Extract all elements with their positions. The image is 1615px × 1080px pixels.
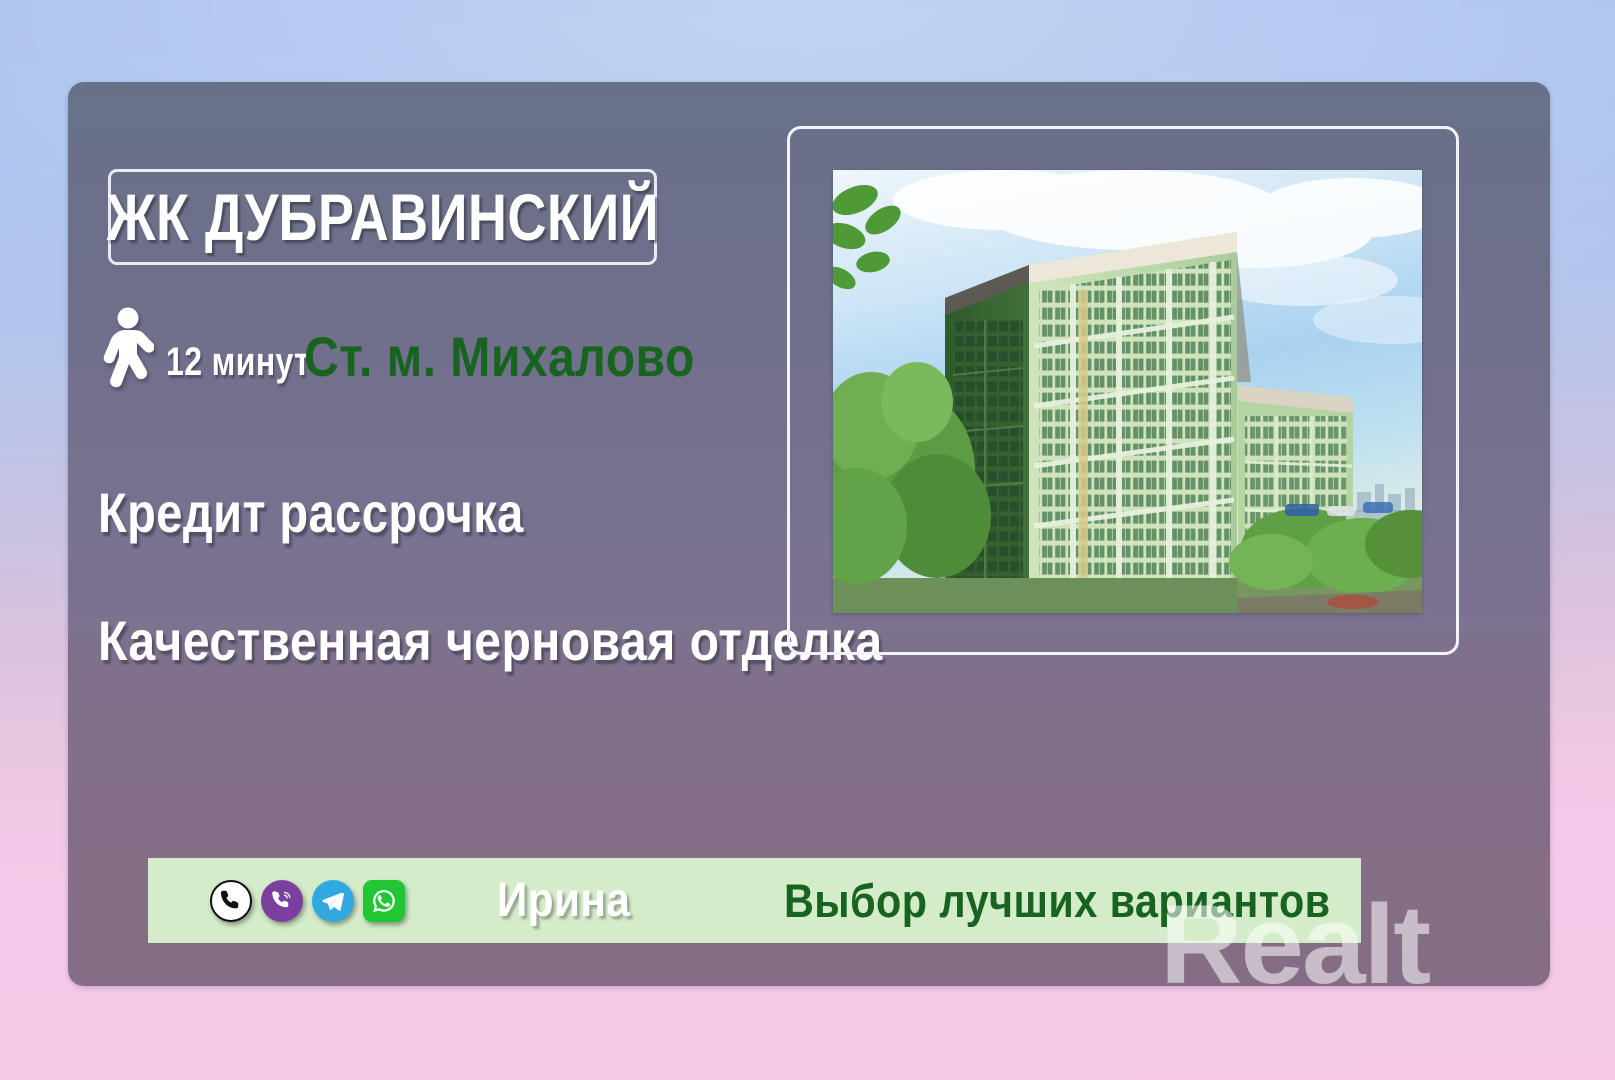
metro-distance-row: 12 минут Ст. м. Михалово xyxy=(98,303,759,391)
walk-time-label: 12 минут xyxy=(166,340,310,385)
advertisement-banner: ЖК ДУБРАВИНСКИЙ 12 минут Ст. м. Михалово… xyxy=(0,0,1615,1080)
metro-station-label: Ст. м. Михалово xyxy=(304,324,695,389)
tagline: Выбор лучших вариантов xyxy=(784,873,1331,928)
whatsapp-icon[interactable] xyxy=(363,880,405,922)
agent-name: Ирина xyxy=(497,873,630,928)
contact-bar: Ирина Выбор лучших вариантов xyxy=(148,858,1361,943)
building-photo xyxy=(833,170,1422,613)
contact-icon-group xyxy=(210,880,405,922)
viber-icon[interactable] xyxy=(261,880,303,922)
feature-credit: Кредит рассрочка xyxy=(98,480,524,545)
telegram-icon[interactable] xyxy=(312,880,354,922)
phone-icon[interactable] xyxy=(210,880,252,922)
complex-title-plate: ЖК ДУБРАВИНСКИЙ xyxy=(108,169,657,265)
walking-person-icon xyxy=(98,307,154,391)
page-title: ЖК ДУБРАВИНСКИЙ xyxy=(106,184,658,250)
feature-finishing: Качественная черновая отделка xyxy=(98,608,883,673)
